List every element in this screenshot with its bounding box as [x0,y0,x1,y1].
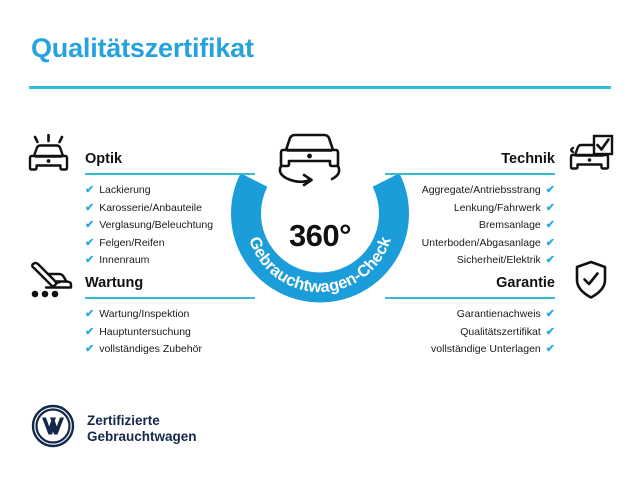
checklist-item: ✔Verglasung/Beleuchtung [85,217,255,235]
check-icon: ✔ [85,344,94,355]
checklist-item-label: Garantienachweis [457,306,541,324]
section-title: Wartung [85,275,143,291]
vw-logo-icon [31,404,75,453]
footer-text: Zertifizierte Gebrauchtwagen [87,413,197,445]
check-icon: ✔ [546,255,555,266]
check-icon: ✔ [85,185,94,196]
checklist-item-label: Unterboden/Abgasanlage [422,235,541,253]
check-icon: ✔ [85,255,94,266]
checklist-item: ✔Wartung/Inspektion [85,306,255,324]
section-garantie: Garantie Garantienachweis✔Qualitätszerti… [385,266,555,359]
certificate-page: Qualitätszertifikat [0,0,640,480]
checklist-item: vollständige Unterlagen✔ [385,341,555,359]
checklist-item-label: Felgen/Reifen [99,235,164,253]
checklist-item: ✔Hauptuntersuchung [85,324,255,342]
check-icon: ✔ [546,344,555,355]
checklist-item-label: Karosserie/Anbauteile [99,200,202,218]
section-wartung: Wartung ✔Wartung/Inspektion✔Hauptuntersu… [85,266,255,359]
shield-check-icon [574,260,608,305]
checklist-item: Unterboden/Abgasanlage✔ [385,235,555,253]
checklist-item: ✔vollständiges Zubehör [85,341,255,359]
section-underline [385,173,555,175]
checklist-item-label: Lenkung/Fahrwerk [454,200,541,218]
checklist-item-label: Hauptuntersuchung [99,324,191,342]
checklist-item-label: Aggregate/Antriebsstrang [422,182,541,200]
section-underline [85,173,255,175]
car-checkbox-icon [568,134,614,181]
section-underline [85,297,255,299]
checklist-item-label: Wartung/Inspektion [99,306,189,324]
section-header: Technik [385,142,555,176]
footer-line-2: Gebrauchtwagen [87,429,197,444]
section-header: Garantie [385,266,555,300]
checklist-item: Bremsanlage✔ [385,217,555,235]
check-icon: ✔ [85,309,94,320]
car-shine-icon [26,134,72,181]
check-icon: ✔ [546,220,555,231]
checklist: ✔Wartung/Inspektion✔Hauptuntersuchung✔vo… [85,306,255,359]
checklist-item: Qualitätszertifikat✔ [385,324,555,342]
check-icon: ✔ [546,185,555,196]
check-icon: ✔ [85,238,94,249]
check-icon: ✔ [85,220,94,231]
checklist-item: Lenkung/Fahrwerk✔ [385,200,555,218]
section-technik: Technik Aggregate/Antriebsstrang✔Lenkung… [385,142,555,270]
checklist-item: ✔Lackierung [85,182,255,200]
section-title: Optik [85,151,122,167]
section-underline [385,297,555,299]
checklist-item-label: vollständige Unterlagen [431,341,541,359]
checklist-item-label: Bremsanlage [479,217,541,235]
page-title: Qualitätszertifikat [31,33,254,64]
section-header: Optik [85,142,255,176]
checklist-item-label: Qualitätszertifikat [460,324,541,342]
section-optik: Optik ✔Lackierung✔Karosserie/Anbauteile✔… [85,142,255,270]
section-title: Technik [501,151,555,167]
checklist-item: Garantienachweis✔ [385,306,555,324]
check-icon: ✔ [546,238,555,249]
checklist: Garantienachweis✔Qualitätszertifikat✔vol… [385,306,555,359]
check-icon: ✔ [85,203,94,214]
checklist-item-label: vollständiges Zubehör [99,341,202,359]
footer-branding: Zertifizierte Gebrauchtwagen [31,404,197,453]
car-wrench-icon [26,258,74,305]
checklist: ✔Lackierung✔Karosserie/Anbauteile✔Vergla… [85,182,255,270]
checklist: Aggregate/Antriebsstrang✔Lenkung/Fahrwer… [385,182,555,270]
section-title: Garantie [496,275,555,291]
check-icon: ✔ [546,309,555,320]
checklist-item: Aggregate/Antriebsstrang✔ [385,182,555,200]
section-header: Wartung [85,266,255,300]
header-divider [29,86,611,89]
check-icon: ✔ [546,327,555,338]
check-icon: ✔ [85,327,94,338]
check-icon: ✔ [546,203,555,214]
footer-line-1: Zertifizierte [87,413,160,428]
checklist-item-label: Lackierung [99,182,150,200]
checklist-item: ✔Felgen/Reifen [85,235,255,253]
checklist-item-label: Verglasung/Beleuchtung [99,217,213,235]
checklist-item: ✔Karosserie/Anbauteile [85,200,255,218]
